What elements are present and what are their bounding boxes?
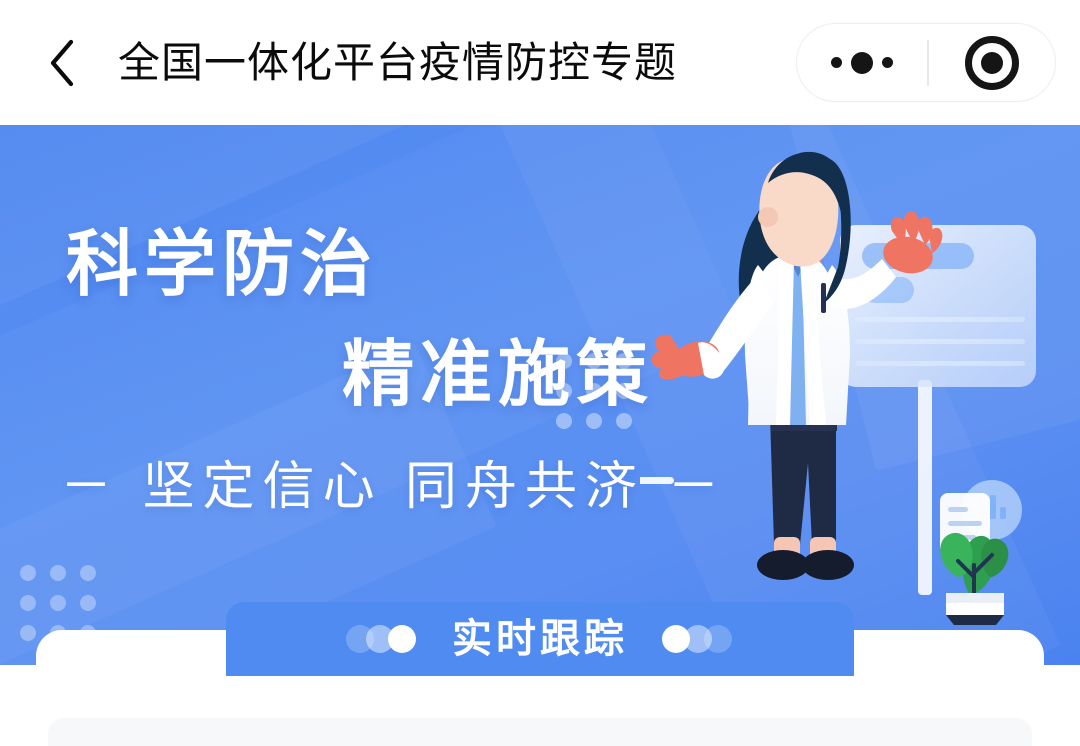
section-tab-label: 实时跟踪: [452, 619, 628, 659]
page-title: 全国一体化平台疫情防控专题: [118, 32, 677, 94]
doctor-illustration: [640, 125, 1080, 625]
navigation-bar: 全国一体化平台疫情防控专题: [0, 0, 1080, 125]
section-tab-realtime-tracking[interactable]: 实时跟踪: [226, 602, 854, 676]
content-inner-panel: [48, 718, 1032, 746]
more-dots-icon: [831, 52, 893, 74]
target-circle-icon: [965, 36, 1019, 90]
back-button[interactable]: [40, 35, 84, 91]
banner-headline-line2: 精准施策: [342, 339, 654, 411]
dots-ornament-icon: [628, 619, 748, 659]
banner-headline-line1: 科学防治: [66, 229, 378, 301]
banner-subtitle: － 坚定信心 同舟共济 －: [60, 461, 727, 513]
hero-banner: 科学防治 精准施策 － 坚定信心 同舟共济 －: [0, 125, 1080, 665]
wechat-capsule-bar: [796, 23, 1056, 102]
mini-program-page: 全国一体化平台疫情防控专题 科学防治: [0, 0, 1080, 746]
dots-ornament-icon: [332, 619, 452, 659]
more-menu-button[interactable]: [797, 24, 927, 101]
close-miniprogram-button[interactable]: [929, 24, 1056, 101]
chevron-left-icon: [47, 38, 77, 88]
